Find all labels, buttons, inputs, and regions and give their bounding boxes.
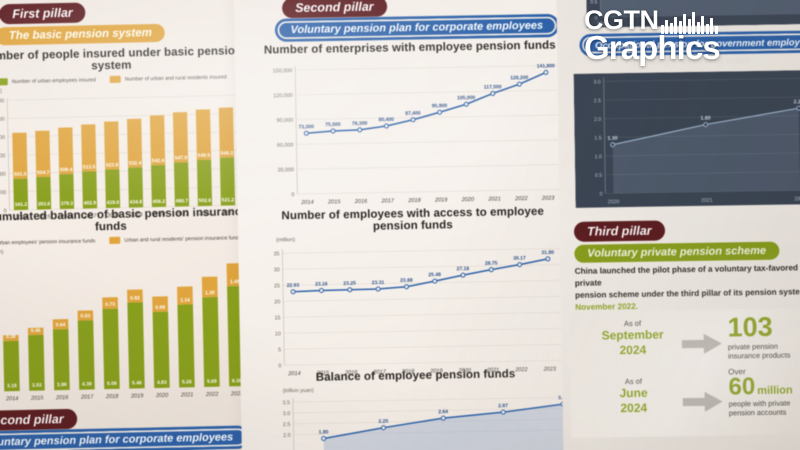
svg-text:1.30: 1.30 [205, 290, 215, 296]
chart-people-insured-plot: 02004006008001,0001,200341.2501.02014353… [0, 89, 246, 225]
svg-text:0.63: 0.63 [80, 313, 90, 319]
svg-text:2018: 2018 [407, 198, 421, 204]
svg-text:508.4: 508.4 [60, 167, 73, 173]
legend-swatch-green [0, 78, 8, 85]
legend-item: Urban and rural residents' pension insur… [109, 234, 241, 244]
third-pillar-badge: Third pillar [574, 220, 665, 241]
stat-1-asof: As of September 2024 [589, 318, 676, 359]
svg-text:105,000: 105,000 [457, 95, 475, 101]
chart-balance-employee: Balance of employee pension funds (trill… [260, 367, 572, 450]
third-pillar-stats-card: As of September 2024 103 private pension… [569, 308, 800, 438]
svg-text:2.5: 2.5 [594, 98, 601, 104]
svg-text:2.64: 2.64 [438, 409, 448, 415]
chart-employees-access-title: Number of employees with access to emplo… [258, 205, 568, 234]
svg-text:120,000: 120,000 [273, 93, 293, 99]
svg-text:353.6: 353.6 [38, 201, 51, 207]
stat-2-value-block: Over 60 million people with private pens… [728, 366, 800, 418]
svg-text:2.0: 2.0 [283, 433, 291, 439]
svg-text:2015: 2015 [327, 199, 341, 205]
chart-accumulated-balance-title: Accumulated balance of basic pension ins… [0, 206, 252, 236]
stat-1-desc-2: insurance products [728, 350, 800, 361]
svg-text:419.0: 419.0 [107, 200, 120, 206]
svg-text:2022: 2022 [794, 196, 800, 202]
svg-text:141,800: 141,800 [537, 63, 555, 69]
svg-text:23.31: 23.31 [372, 280, 385, 286]
second-pillar-badge-repeat: Second pillar [0, 409, 77, 431]
cgtn-graphics-logo: CGTN Graphics [584, 8, 790, 74]
chart-people-insured: Number of people insured under basic pen… [0, 45, 246, 230]
svg-text:4.39: 4.39 [82, 381, 92, 387]
logo-text-graphics: Graphics [584, 32, 790, 63]
svg-text:400: 400 [0, 172, 6, 178]
second-pillar-panel: Second pillar Voluntary pension plan for… [234, 0, 592, 450]
svg-text:20: 20 [274, 299, 280, 305]
first-pillar-panel: First pillar The basic pension system Nu… [0, 0, 265, 450]
svg-text:2019: 2019 [434, 197, 448, 203]
chart-employees-access: Number of employees with access to emplo… [258, 205, 571, 388]
svg-text:547.9: 547.9 [175, 155, 188, 161]
svg-text:480.7: 480.7 [176, 198, 189, 204]
svg-text:25.48: 25.48 [428, 272, 441, 278]
svg-text:2020: 2020 [461, 197, 475, 203]
svg-text:30,000: 30,000 [277, 167, 294, 173]
third-pillar-body-line1: China launched the pilot phase of a volu… [575, 262, 800, 290]
svg-text:521.2: 521.2 [222, 197, 235, 203]
legend-swatch-orange [109, 237, 120, 244]
stat-2-unit: million [757, 384, 793, 397]
svg-text:35: 35 [273, 251, 279, 257]
svg-text:2020: 2020 [608, 199, 620, 205]
svg-text:117,500: 117,500 [484, 84, 502, 90]
svg-text:0.98: 0.98 [155, 305, 165, 311]
svg-text:23.88: 23.88 [400, 278, 413, 284]
svg-text:2023: 2023 [541, 196, 555, 202]
legend-label: Urban employees' pension insurance funds [0, 238, 95, 246]
svg-text:1.80: 1.80 [319, 429, 329, 435]
svg-text:1,200: 1,200 [0, 98, 4, 104]
svg-text:1.0: 1.0 [595, 154, 602, 160]
svg-text:2019: 2019 [130, 393, 144, 399]
chart-enterprises: Number of enterprises with employee pens… [255, 39, 568, 217]
legend-item: Number of urban employees insured [0, 76, 96, 85]
svg-text:2015: 2015 [30, 395, 44, 401]
svg-text:73,300: 73,300 [299, 124, 315, 130]
svg-text:23.16: 23.16 [315, 281, 328, 287]
svg-text:0: 0 [600, 191, 603, 197]
legend-label: Number of urban and rural residents insu… [125, 74, 227, 82]
svg-text:87,400: 87,400 [405, 111, 421, 117]
svg-text:3.86: 3.86 [57, 382, 67, 388]
stat-1-asof-year: 2024 [590, 343, 676, 359]
svg-text:434.8: 434.8 [130, 199, 143, 205]
svg-text:76,300: 76,300 [352, 121, 368, 127]
second-pillar-subtitle-repeat: Voluntary pension plan for corporate emp… [0, 427, 247, 450]
chart-people-insured-title: Number of people insured under basic pen… [0, 45, 243, 75]
svg-text:10: 10 [275, 331, 281, 337]
svg-text:1.30: 1.30 [607, 136, 617, 142]
svg-text:3.0: 3.0 [593, 79, 600, 85]
first-pillar-badge: First pillar [0, 2, 86, 24]
stat-2-asof-month: June [590, 386, 676, 402]
svg-text:0.64: 0.64 [56, 322, 66, 328]
svg-text:27.18: 27.18 [457, 266, 470, 272]
svg-text:5.69: 5.69 [207, 379, 217, 385]
svg-text:15: 15 [274, 315, 280, 321]
stat-2-asof-label: As of [625, 377, 642, 386]
svg-text:2014: 2014 [5, 396, 19, 402]
chart-accumulated-balance: Accumulated balance of basic pension ins… [0, 206, 256, 413]
stat-2-value: 60 [728, 376, 755, 398]
svg-text:23.25: 23.25 [343, 281, 356, 287]
svg-text:0.5: 0.5 [595, 173, 602, 179]
second-pillar-badge-label: Second pillar [282, 0, 387, 18]
legend-label: Urban and rural residents' pension insur… [124, 235, 241, 244]
second-pillar-subtitle: Voluntary pension plan for corporate emp… [276, 15, 557, 40]
svg-text:2.0: 2.0 [594, 117, 601, 123]
chart-occupational-plot: 00.51.01.52.02.53.01.3020201.8020212.202… [574, 70, 800, 208]
svg-text:1.80: 1.80 [700, 116, 710, 122]
svg-text:4.83: 4.83 [157, 380, 167, 386]
svg-text:90,000: 90,000 [277, 118, 294, 124]
stat-2-asof-year: 2024 [591, 401, 677, 417]
svg-text:0: 0 [278, 363, 281, 369]
svg-text:2014: 2014 [300, 200, 314, 206]
first-pillar-subtitle: The basic pension system [0, 23, 165, 46]
second-pillar-badge: Second pillar [282, 0, 387, 18]
legend-label: Number of urban employees insured [12, 77, 96, 85]
stat-2-desc-1: people with private [729, 398, 800, 409]
stat-2-desc-2: pension accounts [729, 407, 800, 418]
svg-text:95,900: 95,900 [432, 103, 448, 109]
second-pillar-subtitle-label: Voluntary pension plan for corporate emp… [276, 15, 557, 40]
svg-text:800: 800 [0, 135, 5, 141]
svg-text:1.5: 1.5 [594, 135, 601, 141]
legend-swatch-orange [110, 76, 121, 83]
svg-text:2.25: 2.25 [378, 419, 388, 425]
second-pillar-badge-repeat-label: Second pillar [0, 409, 77, 431]
first-pillar-subtitle-label: The basic pension system [0, 24, 165, 46]
svg-text:30.17: 30.17 [513, 255, 526, 261]
svg-text:379.3: 379.3 [61, 201, 74, 207]
svg-text:2021: 2021 [180, 392, 194, 398]
svg-text:502.6: 502.6 [199, 198, 212, 204]
third-pillar-subtitle: Voluntary private pension scheme [574, 241, 779, 263]
svg-text:0: 0 [291, 192, 294, 198]
svg-text:2021: 2021 [487, 196, 501, 202]
svg-text:504.7: 504.7 [37, 170, 50, 176]
stat-1-asof-label: As of [624, 319, 641, 328]
svg-text:2017: 2017 [380, 198, 394, 204]
stat-1-asof-month: September [590, 328, 676, 344]
svg-text:549.5: 549.5 [198, 153, 211, 159]
stat-1-value: 103 [727, 314, 800, 341]
svg-text:1.14: 1.14 [180, 297, 190, 303]
svg-text:3.18: 3.18 [7, 383, 17, 389]
chart-accumulated-balance-plot: 3.180.3820143.530.4620153.860.6420164.39… [0, 250, 256, 408]
svg-text:456.2: 456.2 [153, 199, 166, 205]
third-pillar-body: China launched the pilot phase of a volu… [575, 262, 800, 314]
svg-text:128,200: 128,200 [510, 75, 528, 81]
stat-2-asof: As of June 2024 [590, 376, 677, 417]
svg-text:0.82: 0.82 [130, 295, 140, 301]
svg-text:2018: 2018 [105, 394, 119, 400]
legend-item: Urban employees' pension insurance funds [0, 237, 95, 246]
svg-text:200: 200 [0, 190, 6, 196]
svg-text:2.5: 2.5 [283, 422, 291, 428]
chart-enterprises-plot: 030,00060,00090,000120,000150,00073,3002… [255, 55, 568, 212]
legend-item: Number of urban and rural residents insu… [110, 73, 227, 83]
svg-text:1,000: 1,000 [0, 117, 5, 123]
first-pillar-badge-label: First pillar [0, 2, 86, 24]
chart-enterprises-title: Number of enterprises with employee pens… [255, 39, 565, 56]
svg-text:2022: 2022 [205, 392, 219, 398]
arrow-right-icon [682, 334, 722, 355]
svg-text:2016: 2016 [55, 395, 69, 401]
svg-text:523.9: 523.9 [106, 162, 119, 168]
svg-text:150,000: 150,000 [273, 68, 293, 74]
svg-text:3.5: 3.5 [282, 400, 290, 406]
svg-text:60,000: 60,000 [277, 142, 294, 148]
svg-text:542.4: 542.4 [152, 158, 165, 164]
svg-text:28.75: 28.75 [485, 261, 498, 267]
second-pillar-subtitle-repeat-label: Voluntary pension plan for corporate emp… [0, 427, 247, 450]
svg-text:5.46: 5.46 [132, 380, 142, 386]
chart-employees-access-plot: 0510152025303522.93201423.16201523.25201… [258, 238, 570, 383]
svg-text:0.46: 0.46 [31, 328, 41, 334]
svg-text:75,500: 75,500 [325, 122, 341, 128]
svg-text:25: 25 [274, 283, 280, 289]
svg-text:5.26: 5.26 [182, 379, 192, 385]
svg-text:5.09: 5.09 [107, 381, 117, 387]
svg-text:546.3: 546.3 [221, 151, 234, 157]
svg-text:600: 600 [0, 153, 5, 159]
svg-text:2022: 2022 [514, 196, 528, 202]
svg-text:80,400: 80,400 [379, 117, 395, 123]
svg-text:0.73: 0.73 [105, 302, 115, 308]
svg-text:3.53: 3.53 [32, 383, 42, 389]
svg-text:2021: 2021 [701, 198, 713, 204]
stat-1-value-block: 103 private pension insurance products [727, 314, 800, 361]
arrow-right-icon [683, 392, 723, 413]
svg-text:2.20: 2.20 [794, 99, 800, 105]
svg-text:402.9: 402.9 [84, 200, 97, 206]
svg-text:2017: 2017 [80, 394, 94, 400]
svg-text:30: 30 [274, 267, 280, 273]
svg-text:341.2: 341.2 [15, 202, 28, 208]
svg-text:501.0: 501.0 [14, 172, 27, 178]
svg-text:2016: 2016 [354, 199, 368, 205]
svg-text:532.4: 532.4 [129, 160, 142, 166]
svg-text:0.38: 0.38 [6, 334, 16, 340]
svg-text:2.87: 2.87 [498, 403, 508, 409]
third-pillar-badge-label: Third pillar [574, 220, 665, 241]
svg-text:2020: 2020 [155, 393, 169, 399]
chart-balance-employee-plot: 2.02.53.03.51.8020192.2520202.6420212.87… [261, 389, 573, 450]
svg-text:31.80: 31.80 [541, 250, 554, 256]
svg-text:513.5: 513.5 [83, 164, 96, 170]
svg-text:22.93: 22.93 [287, 283, 300, 289]
svg-text:3.0: 3.0 [283, 411, 291, 417]
svg-text:5: 5 [278, 347, 281, 353]
third-pillar-subtitle-label: Voluntary private pension scheme [574, 242, 779, 263]
